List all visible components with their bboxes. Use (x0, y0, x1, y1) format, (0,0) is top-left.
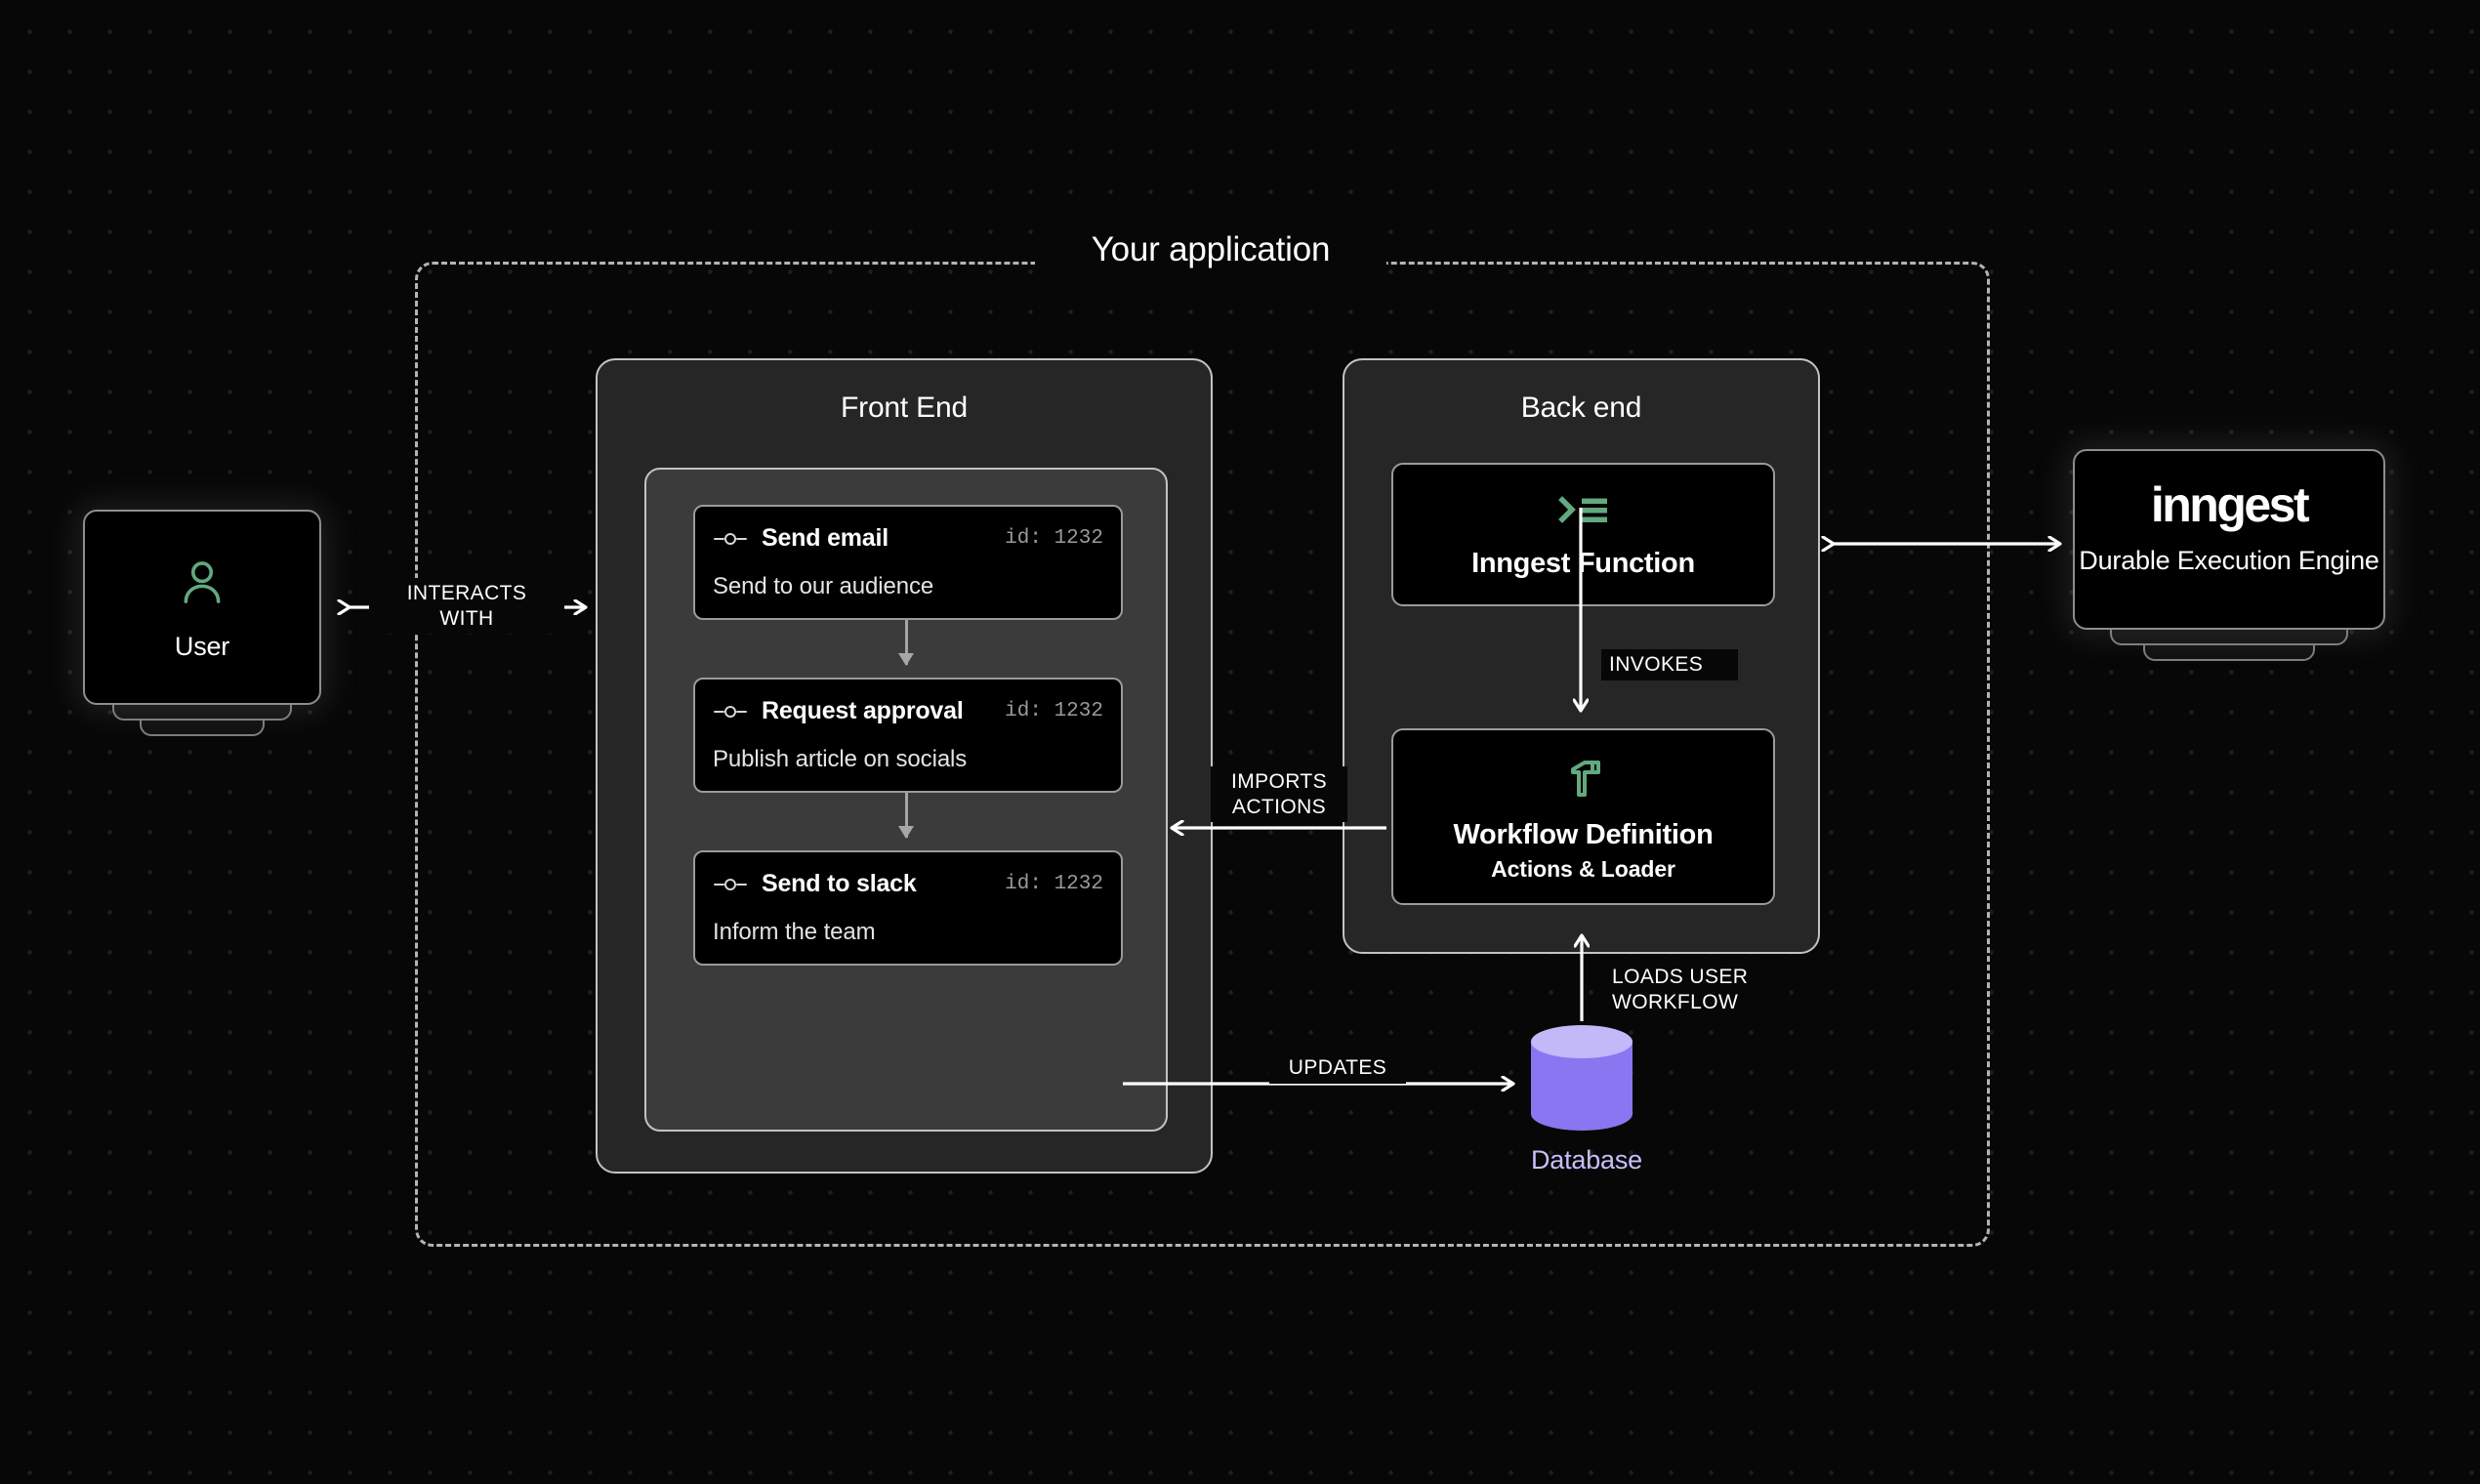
user-node-screen: User (83, 510, 321, 705)
workflow-definition-card[interactable]: Workflow Definition Actions & Loader (1391, 728, 1775, 905)
workflow-step-card[interactable]: Send email id: 1232 Send to our audience (693, 505, 1123, 620)
back-end-panel: Back end Inngest Function Workflow Defin… (1343, 358, 1820, 954)
hammer-icon (1393, 756, 1773, 805)
inngest-wordmark: inngest (2075, 480, 2383, 529)
user-icon (176, 597, 228, 613)
user-label: User (85, 632, 319, 662)
workflow-step-header: Send email id: 1232 (713, 524, 1103, 553)
workflow-node-icon (713, 703, 748, 721)
inngest-node-stack-front (2110, 628, 2348, 645)
workflow-step-title: Request approval (762, 697, 964, 725)
workflow-step-header: Send to slack id: 1232 (713, 870, 1103, 898)
database-label: Database (1531, 1145, 1633, 1175)
inngest-tagline: Durable Execution Engine (2075, 545, 2383, 577)
inngest-engine-node: inngest Durable Execution Engine (2073, 449, 2385, 630)
user-node: User (83, 510, 321, 705)
workflow-step-id: id: 1232 (991, 527, 1103, 550)
database-cylinder-icon (1531, 1025, 1633, 1131)
edge-label-invokes: INVOKES (1601, 649, 1738, 680)
workflow-node-icon (713, 876, 748, 893)
front-end-title: Front End (598, 392, 1211, 425)
back-end-title: Back end (1344, 392, 1818, 425)
database-node: Database (1531, 1025, 1633, 1175)
workflow-step-title: Send to slack (762, 870, 917, 898)
workflow-step-card[interactable]: Request approval id: 1232 Publish articl… (693, 678, 1123, 793)
user-node-stack-front (112, 703, 292, 721)
application-boundary-title: Your application (1035, 225, 1386, 275)
workflow-step-description: Inform the team (713, 919, 1103, 946)
workflow-step-connector (905, 793, 908, 838)
diagram-canvas: Your application User Front End (0, 0, 2480, 1484)
workflow-step-connector (905, 620, 908, 665)
user-node-stack-back (140, 719, 265, 736)
workflow-step-header: Request approval id: 1232 (713, 697, 1103, 725)
workflow-step-title: Send email (762, 524, 889, 553)
inngest-function-title: Inngest Function (1393, 548, 1773, 580)
workflow-step-description: Send to our audience (713, 573, 1103, 600)
front-end-panel: Front End Send email id: 1232 Send to ou (596, 358, 1213, 1174)
edge-label-updates: UPDATES (1269, 1052, 1406, 1084)
inngest-node-screen: inngest Durable Execution Engine (2073, 449, 2385, 630)
edge-label-imports-actions: IMPORTS ACTIONS (1211, 766, 1347, 822)
workflow-definition-subtitle: Actions & Loader (1393, 856, 1773, 883)
workflow-editor: Send email id: 1232 Send to our audience (644, 468, 1168, 1132)
edge-label-interacts-with: INTERACTS WITH (369, 578, 564, 634)
workflow-step-id: id: 1232 (991, 700, 1103, 722)
workflow-step-id: id: 1232 (991, 873, 1103, 895)
workflow-step-description: Publish article on socials (713, 746, 1103, 773)
inngest-function-card[interactable]: Inngest Function (1391, 463, 1775, 606)
workflow-definition-title: Workflow Definition (1393, 819, 1773, 851)
terminal-prompt-icon (1393, 490, 1773, 534)
inngest-node-stack-back (2143, 643, 2315, 661)
edge-label-loads-user-workflow: LOADS USER WORKFLOW (1604, 962, 1790, 1017)
workflow-node-icon (713, 530, 748, 548)
database-cylinder-top (1531, 1025, 1633, 1058)
workflow-step-card[interactable]: Send to slack id: 1232 Inform the team (693, 850, 1123, 966)
